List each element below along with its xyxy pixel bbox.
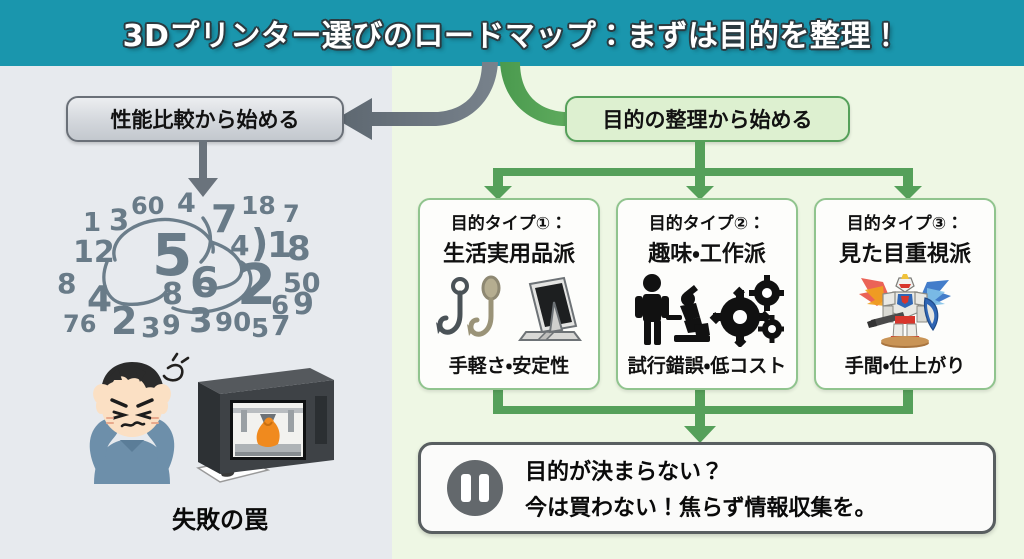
cloud-number: 7 (271, 312, 290, 340)
type-card-3-footer: 手間・仕上がり (845, 351, 965, 378)
failure-caption: 失敗の罠 (55, 500, 385, 535)
pause-icon (447, 460, 503, 516)
gray-fork-arrow (336, 62, 498, 140)
conclusion-line-2: 今は買わない！焦らず情報収集を。 (525, 490, 877, 522)
cloud-number: 2 (111, 302, 137, 340)
cloud-number: 5 (152, 226, 192, 284)
type-card-3-title: 目的タイプ③： (847, 209, 963, 234)
type-card-1-footer: 手軽さ・安定性 (449, 351, 569, 378)
cloud-number: 90 (215, 310, 251, 336)
page-title: 3Dプリンター選びのロードマップ：まずは目的を整理！ (123, 11, 902, 55)
cloud-number: 8 (162, 280, 183, 310)
conclusion-line-1: 目的が決まらない？ (525, 454, 877, 486)
left-branch-box[interactable]: 性能比較から始める (66, 96, 344, 142)
type-card-2-footer: 試行錯誤・低コスト (628, 351, 786, 378)
type-card-2-title: 目的タイプ②： (649, 209, 765, 234)
cloud-number: 18 (241, 193, 276, 218)
type-card-3[interactable]: 目的タイプ③： 見た目重視派 (814, 198, 996, 390)
right-branch-box[interactable]: 目的の整理から始める (565, 96, 850, 142)
type-card-3-art (816, 268, 994, 351)
cloud-number: 76 (63, 312, 96, 336)
cloud-number: 3 (141, 314, 160, 342)
type-card-2-subtitle: 趣味・工作派 (648, 236, 765, 268)
type-card-3-subtitle: 見た目重視派 (839, 236, 971, 268)
type-card-2[interactable]: 目的タイプ②： 趣味・工作派 (616, 198, 798, 390)
infographic-canvas: 3Dプリンター選びのロードマップ：まずは目的を整理！ 性能比較から始める 目的の… (0, 0, 1024, 559)
conclusion-box[interactable]: 目的が決まらない？ 今は買わない！焦らず情報収集を。 (418, 442, 996, 534)
cloud-number: 3 (109, 206, 129, 235)
cloud-number: 3 (189, 304, 213, 338)
cloud-number: 1 (83, 210, 101, 236)
cloud-number: 4 (177, 190, 196, 217)
pause-bar-left (461, 474, 471, 502)
header-bar: 3Dプリンター選びのロードマップ：まずは目的を整理！ (0, 0, 1024, 66)
cloud-number: 9 (162, 312, 181, 339)
type-card-1[interactable]: 目的タイプ①： 生活実用品派 (418, 198, 600, 390)
cloud-number: 8 (287, 232, 311, 266)
pause-bar-right (479, 474, 489, 502)
type-card-2-art (618, 268, 796, 351)
cloud-number: 9 (293, 290, 314, 320)
frustrated-man-and-printer-illustration (72, 352, 362, 497)
cloud-number: 6 (190, 262, 219, 304)
cloud-number: 7 (283, 202, 300, 226)
type-card-1-title: 目的タイプ①： (451, 209, 567, 234)
cloud-number: 5 (251, 316, 269, 342)
right-branch-label: 目的の整理から始める (603, 104, 813, 134)
tree-connector-bottom (408, 382, 1008, 444)
left-branch-label: 性能比較から始める (111, 104, 300, 134)
cloud-number: 60 (131, 194, 164, 218)
cloud-number: 8 (57, 270, 76, 298)
person-and-gears-icon (630, 273, 784, 347)
cloud-number: 12 (73, 238, 115, 268)
number-cloud: 1360471871254)188486250697623939057 (55, 190, 385, 355)
type-card-1-subtitle: 生活実用品派 (443, 236, 575, 268)
tree-connector-top (408, 140, 1008, 200)
conclusion-text: 目的が決まらない？ 今は買わない！焦らず情報収集を。 (525, 454, 877, 522)
robot-model-figure-icon (849, 272, 961, 348)
type-card-1-art (420, 268, 598, 351)
hooks-and-tablet-stand-icon (434, 274, 584, 346)
